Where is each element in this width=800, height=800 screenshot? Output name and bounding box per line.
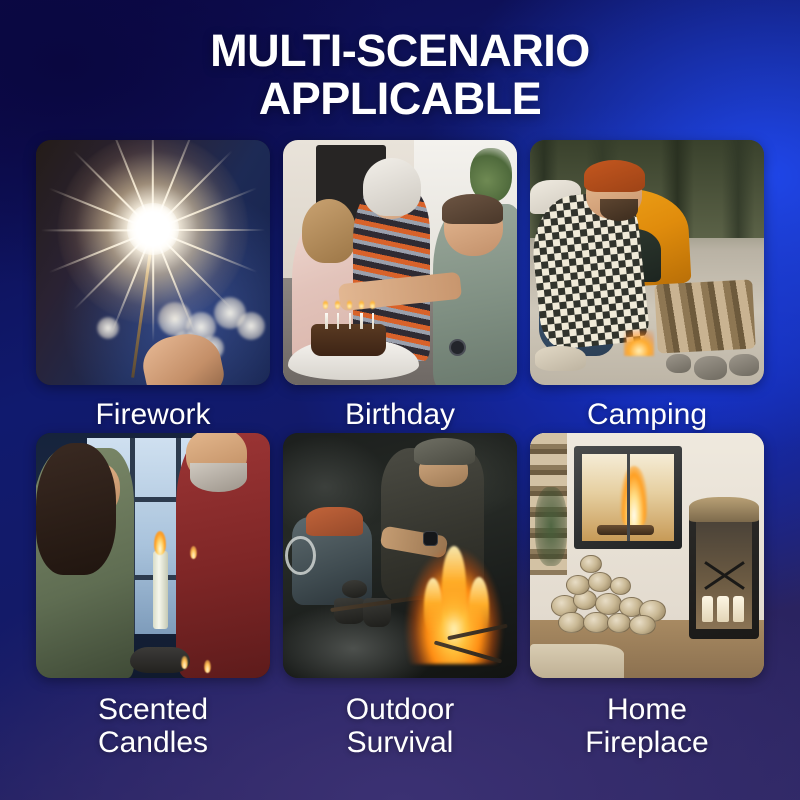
log-end (558, 612, 585, 634)
grandmother-hair (363, 158, 422, 217)
thumbnail-scented-candles[interactable] (36, 433, 270, 678)
cooking-pot (334, 598, 364, 625)
tealight-flame (181, 656, 188, 669)
caption-line-2: Fireplace (585, 727, 708, 759)
caption-line-2: Survival (346, 727, 454, 759)
candle-flame (347, 300, 352, 309)
backpack-lid (306, 507, 362, 536)
coiled-rope (285, 536, 315, 575)
candle-flame (359, 300, 364, 309)
scenario-cell-firework[interactable]: Firework (36, 140, 270, 433)
firewood-logs (655, 280, 757, 354)
caption-outdoor-survival: Outdoor Survival (344, 678, 456, 759)
rock (729, 354, 759, 376)
scenario-cell-home-fireplace[interactable]: Home Fireplace (530, 433, 764, 759)
cake-candle (360, 313, 363, 329)
caption-scented-candles: Scented Candles (96, 678, 210, 759)
scenario-cell-scented-candles[interactable]: Scented Candles (36, 433, 270, 759)
burning-log (597, 525, 654, 535)
scenario-cell-outdoor-survival[interactable]: Outdoor Survival (283, 433, 517, 759)
log-end (607, 613, 631, 633)
caption-line-1: Firework (95, 399, 210, 431)
log-end (580, 555, 602, 573)
thumbnail-outdoor-survival[interactable] (283, 433, 517, 678)
sneaker (535, 346, 586, 371)
lantern-cap (689, 497, 759, 522)
log-end (566, 575, 590, 595)
caption-line-1: Outdoor (346, 694, 454, 726)
firewood-stack (549, 553, 671, 636)
rug (530, 644, 624, 678)
firework-scene-image (36, 140, 270, 385)
lantern (689, 507, 759, 639)
hiker-cap (414, 438, 475, 465)
lantern-candle (717, 596, 728, 622)
rock (666, 354, 692, 374)
scented-candles-scene-image (36, 433, 270, 678)
sparkler-core (127, 203, 179, 255)
page-title-line-1: MULTI-SCENARIO (210, 25, 590, 76)
caption-camping: Camping (585, 385, 709, 433)
caption-line-1: Birthday (345, 399, 455, 431)
thumbnail-firework[interactable] (36, 140, 270, 385)
scenario-grid: Firework (0, 140, 800, 759)
man-beard (190, 463, 246, 492)
caption-birthday: Birthday (343, 385, 457, 433)
caption-line-2: Candles (98, 727, 208, 759)
lantern-candle (702, 596, 713, 622)
thumbnail-birthday[interactable] (283, 140, 517, 385)
page-title: MULTI-SCENARIO APPLICABLE (0, 0, 800, 122)
lantern-candle (733, 596, 744, 622)
fireplace-flame (621, 466, 647, 529)
wristwatch (449, 339, 466, 356)
thumbnail-camping[interactable] (530, 140, 764, 385)
pillar-candle (153, 551, 168, 629)
caption-home-fireplace: Home Fireplace (583, 678, 710, 759)
scenario-cell-birthday[interactable]: Birthday (283, 140, 517, 433)
cake-candle (372, 313, 375, 329)
caption-line-1: Home (585, 694, 708, 726)
flame-tongue (442, 546, 466, 624)
outdoor-survival-scene-image (283, 433, 517, 678)
thumbnail-home-fireplace[interactable] (530, 433, 764, 678)
girl-hair (302, 199, 356, 263)
campfire-flame (624, 330, 654, 356)
birthday-scene-image (283, 140, 517, 385)
home-fireplace-scene-image (530, 433, 764, 678)
scenario-cell-camping[interactable]: Camping (530, 140, 764, 433)
caption-line-1: Camping (587, 399, 707, 431)
log-end (629, 615, 656, 635)
cake-candle (325, 313, 328, 329)
candle-flame (154, 531, 166, 555)
man-hair (442, 194, 503, 223)
orange-beanie (584, 160, 645, 192)
log-end (588, 572, 612, 592)
log-end (583, 612, 610, 634)
log-end (610, 577, 632, 595)
man-beard (600, 199, 637, 221)
caption-line-1: Scented (98, 694, 208, 726)
woman-curly-hair (36, 443, 116, 575)
caption-firework: Firework (93, 385, 212, 433)
cake-candle (349, 313, 352, 329)
camping-scene-image (530, 140, 764, 385)
rock (694, 356, 727, 381)
lantern-glass (696, 520, 752, 629)
page-title-line-2: APPLICABLE (0, 75, 800, 123)
poster-root: MULTI-SCENARIO APPLICABLE (0, 0, 800, 800)
fireplace-frame (574, 446, 682, 549)
fireplace-door-divider (627, 454, 630, 541)
cake-candle (337, 313, 340, 329)
bokeh-light (237, 312, 265, 340)
flame-tongue (424, 578, 442, 634)
pan (342, 580, 368, 597)
